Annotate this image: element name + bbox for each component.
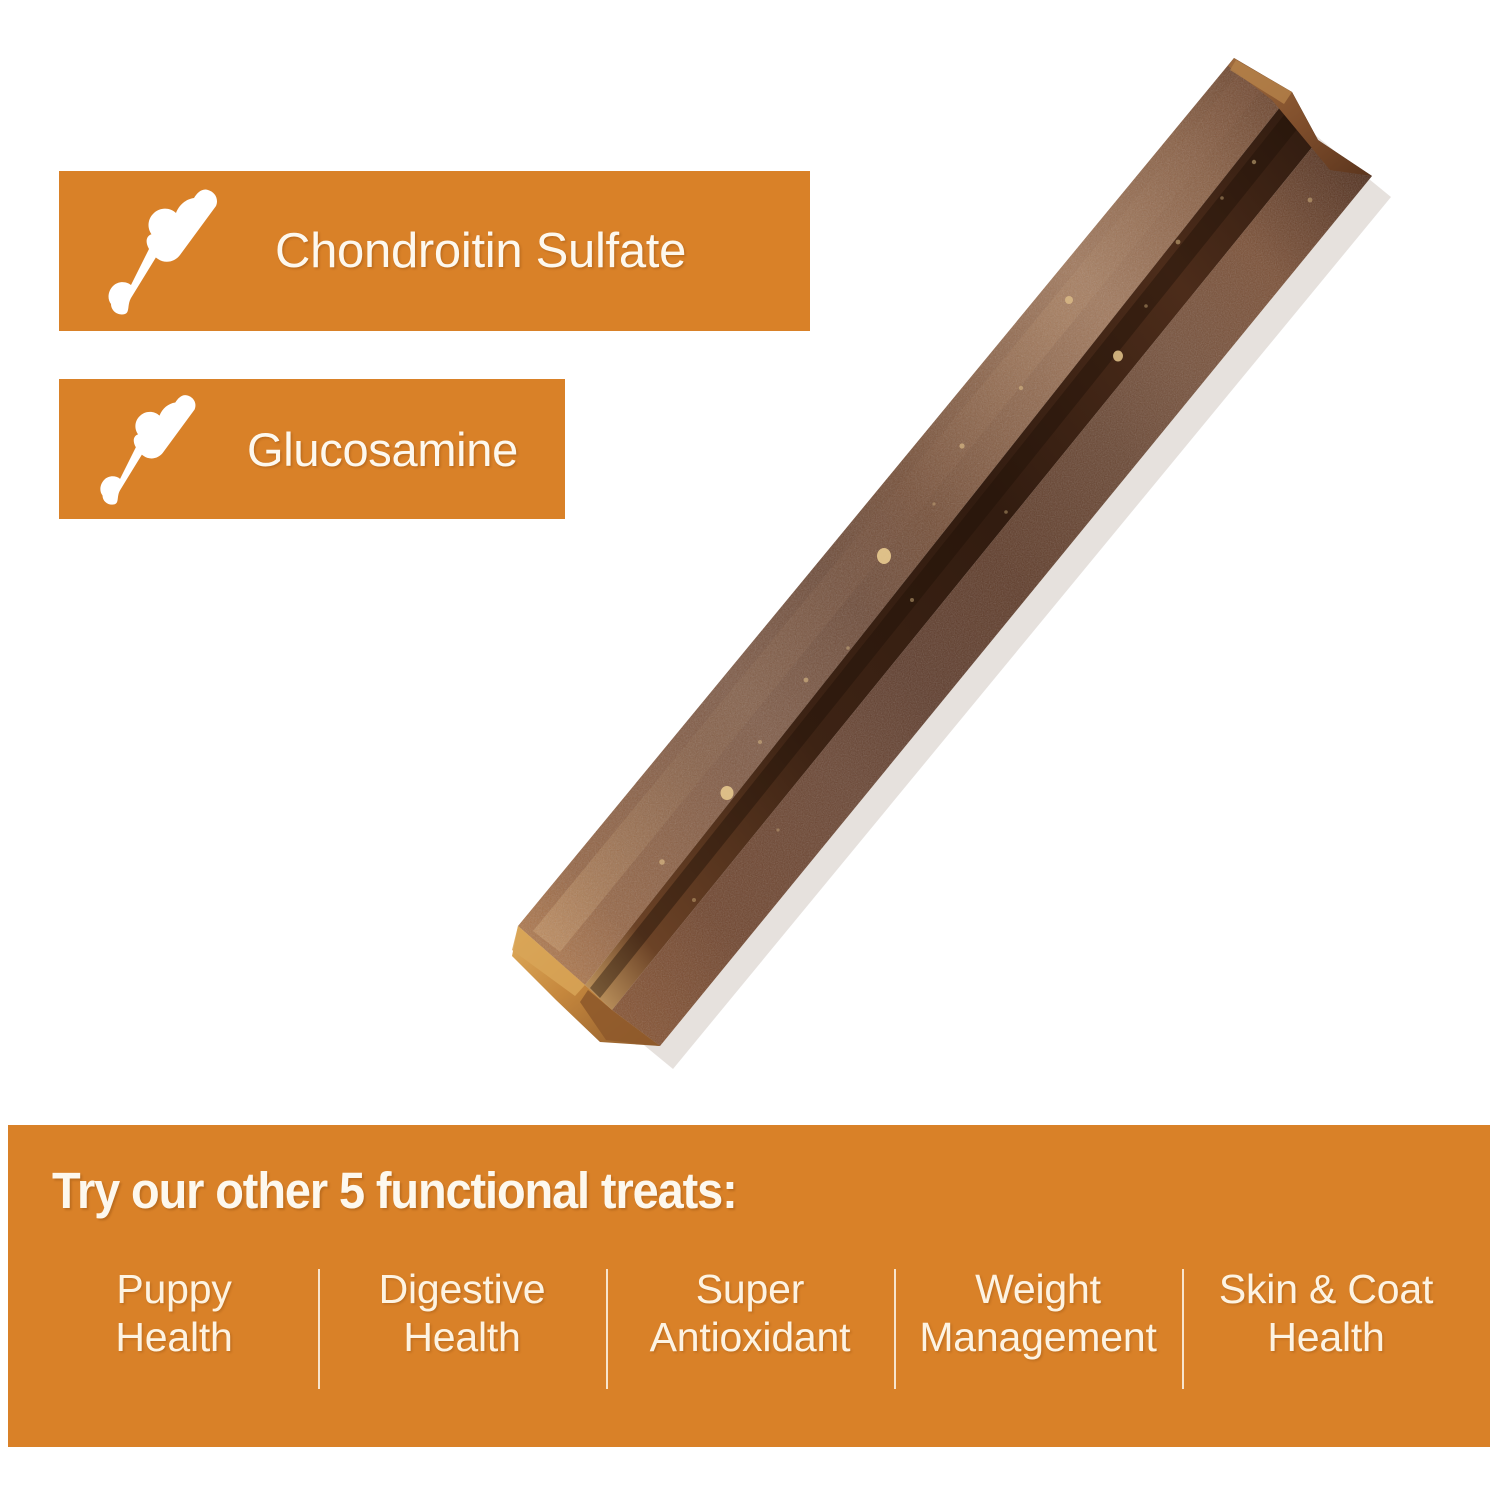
promo-column-line2: Antioxidant [616, 1313, 884, 1361]
promo-column-skin-coat-health[interactable]: Skin & Coat Health [1182, 1265, 1470, 1362]
promo-column-puppy-health[interactable]: Puppy Health [30, 1265, 318, 1362]
product-photo-treat-stick [0, 0, 1500, 1110]
treat-end-bottom-left [512, 926, 660, 1046]
promo-column-weight-management[interactable]: Weight Management [894, 1265, 1182, 1362]
promo-column-line1: Digestive [328, 1265, 596, 1313]
badge-glucosamine-label: Glucosamine [247, 422, 518, 477]
promo-column-line1: Super [616, 1265, 884, 1313]
promo-column-line2: Health [1192, 1313, 1460, 1361]
treat-end-top-right [1228, 58, 1372, 176]
promo-column-line2: Management [904, 1313, 1172, 1361]
promo-column-line1: Puppy [40, 1265, 308, 1313]
promo-column-line1: Weight [904, 1265, 1172, 1313]
badge-chondroitin-label: Chondroitin Sulfate [275, 223, 686, 279]
bone-joint-icon [105, 186, 223, 316]
promo-column-line2: Health [40, 1313, 308, 1361]
promo-column-digestive-health[interactable]: Digestive Health [318, 1265, 606, 1362]
badge-glucosamine: Glucosamine [59, 379, 565, 519]
promo-columns-list: Puppy Health Digestive Health Super Anti… [30, 1265, 1470, 1405]
bone-joint-icon [97, 392, 201, 506]
promo-column-line2: Health [328, 1313, 596, 1361]
dog-chew-treat-stick-illustration [0, 0, 1500, 1110]
promo-column-line1: Skin & Coat [1192, 1265, 1460, 1313]
promo-banner: Try our other 5 functional treats: Puppy… [8, 1125, 1490, 1447]
badge-chondroitin-sulfate: Chondroitin Sulfate [59, 171, 810, 331]
promo-column-super-antioxidant[interactable]: Super Antioxidant [606, 1265, 894, 1362]
promo-heading: Try our other 5 functional treats: [52, 1161, 737, 1220]
